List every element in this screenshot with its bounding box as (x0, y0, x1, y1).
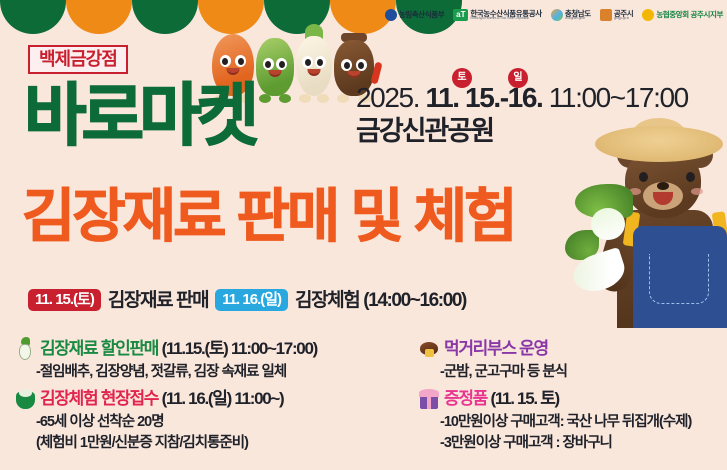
logo-gongju: 공주시 gongju.go.kr (600, 9, 634, 21)
info-detail-line: -3만원이상 구매고객 : 장바구니 (440, 433, 727, 453)
gift-icon (418, 387, 440, 411)
schedule-badge-row: 11. 15.(토) 김장재료 판매 11. 16.(일) 김장체험 (14:0… (28, 289, 466, 311)
bear-eye-icon (686, 172, 695, 182)
shop-branch-badge: 백제금강점 (28, 45, 128, 74)
info-block-experience-signup: 김장체험 현장접수 (11. 16.(일) 11:00~) -65세 이상 선착… (0, 388, 404, 453)
info-title: 증정품 (11. 15. 토) (444, 388, 559, 409)
info-title-when: (11. 16.(일) 11:00~) (162, 389, 284, 408)
chungnam-mark-icon (551, 9, 563, 21)
radish-root (591, 208, 625, 240)
eye-icon (356, 59, 367, 71)
awning-scallop (0, 0, 66, 34)
radish-icon (14, 337, 36, 361)
logo-at: aT 한국농수산식품유통공사 Korea Agro-Fisheries & Fo… (453, 9, 542, 21)
sponsor-logo-bar: 농림축산식품부 aT 한국농수산식품유통공사 Korea Agro-Fisher… (385, 4, 723, 26)
experience-label: 김장체험 (14:00~16:00) (295, 291, 466, 310)
info-title-text: 먹거리부스 운영 (444, 339, 548, 358)
event-venue: 금강신관공원 (356, 118, 688, 145)
sale-date-pill: 11. 15.(토) (28, 289, 101, 311)
info-detail-line: -절임배추, 김장양념, 젓갈류, 김장 속재료 일체 (36, 362, 404, 382)
info-title-text: 증정품 (444, 389, 487, 408)
eye-icon (263, 58, 274, 70)
mouth-icon (308, 69, 321, 76)
logo-label: 공주시 gongju.go.kr (614, 10, 634, 21)
event-year: 2025. (356, 82, 419, 113)
nonghyup-mark-icon (642, 9, 654, 21)
info-block-gift: 증정품 (11. 15. 토) -10만원이상 구매고객: 국산 나무 뒤집개(… (404, 388, 727, 453)
green-cabbage-character (256, 38, 294, 96)
bear-eye-icon (639, 172, 648, 182)
eye-icon (220, 55, 231, 67)
mouth-icon (348, 71, 361, 78)
gongju-mark-icon (600, 9, 612, 21)
bear-cheek (691, 188, 703, 195)
info-title: 김장재료 할인판매 (11.15.(토) 11:00~17:00) (40, 338, 317, 359)
eye-icon (341, 59, 352, 71)
overall-pocket (649, 254, 709, 304)
info-detail-line: -군밤, 군고구마 등 분식 (440, 362, 727, 382)
at-mark-icon: aT (453, 9, 468, 21)
sunday-chip: 일 (508, 68, 528, 88)
experience-date-pill: 11. 16.(일) (215, 289, 288, 311)
sale-label: 김장재료 판매 (108, 291, 208, 310)
character-body (256, 38, 294, 96)
info-block-discount-sale: 김장재료 할인판매 (11.15.(토) 11:00~17:00) -절임배추,… (0, 338, 404, 382)
eye-icon (315, 56, 326, 68)
logo-label: 농림축산식품부 (399, 11, 445, 19)
awning-scallop (66, 0, 132, 34)
info-title: 먹거리부스 운영 (444, 338, 548, 359)
info-detail-line: (체험비 1만원/신분증 지참/김치통준비) (36, 433, 404, 453)
info-block-food-booth: 먹거리부스 운영 -군밤, 군고구마 등 분식 (404, 338, 727, 382)
saturday-chip: 토 (452, 68, 472, 88)
kimchi-pot-icon (14, 387, 36, 411)
info-title-text: 김장체험 현장접수 (40, 389, 158, 408)
eye-icon (235, 55, 246, 67)
logo-label: 농협중앙회 공주시지부 (656, 11, 723, 19)
poster-headline: 김장재료 판매 및 체험 (22, 188, 515, 246)
info-detail-line: -10만원이상 구매고객: 국산 나무 뒤집개(수제) (440, 412, 727, 432)
character-body (296, 36, 332, 96)
event-date-line: 2025. 11. 15.-16. 11:00~17:00 토 일 (356, 82, 688, 114)
info-title: 김장체험 현장접수 (11. 16.(일) 11:00~) (40, 388, 283, 409)
program-info-grid: 김장재료 할인판매 (11.15.(토) 11:00~17:00) -절임배추,… (0, 338, 727, 453)
logo-label: 충청남도 chungnam.go.kr (565, 10, 591, 21)
info-header: 먹거리부스 운영 (418, 338, 727, 362)
bear-nose-icon (657, 182, 669, 190)
info-header: 증정품 (11. 15. 토) (418, 388, 727, 412)
event-date-block: 2025. 11. 15.-16. 11:00~17:00 토 일 금강신관공원 (356, 82, 688, 145)
event-date-range: 11. 15.-16. (425, 82, 542, 113)
info-title-when: (11.15.(토) 11:00~17:00) (162, 339, 317, 358)
mouth-icon (227, 68, 240, 75)
foot-icon (337, 94, 349, 103)
foot-icon (299, 94, 311, 103)
market-logo-title: 바로마켓 (24, 82, 254, 150)
awning-scallop (132, 0, 198, 34)
eye-icon (276, 58, 287, 70)
white-radish-character (296, 36, 332, 96)
logo-nonghyup: 농협중앙회 공주시지부 (642, 9, 723, 21)
mouth-icon (269, 70, 282, 77)
info-title-text: 김장재료 할인판매 (40, 339, 158, 358)
info-detail-line: -65세 이상 선착순 20명 (36, 412, 404, 432)
foot-icon (279, 94, 291, 103)
decorative-radish-icon (575, 184, 635, 242)
government-emblem-icon (385, 9, 397, 21)
info-header: 김장체험 현장접수 (11. 16.(일) 11:00~) (14, 388, 404, 412)
eye-icon (302, 56, 313, 68)
foot-icon (317, 94, 329, 103)
logo-label: 한국농수산식품유통공사 Korea Agro-Fisheries & Food … (470, 10, 542, 21)
logo-molit: 농림축산식품부 (385, 9, 445, 21)
logo-chungnam: 충청남도 chungnam.go.kr (551, 9, 591, 21)
foot-icon (259, 94, 271, 103)
chestnut-icon (418, 337, 440, 361)
info-header: 김장재료 할인판매 (11.15.(토) 11:00~17:00) (14, 338, 404, 362)
event-time: 11:00~17:00 (549, 82, 688, 113)
info-title-when: (11. 15. 토) (490, 389, 558, 408)
